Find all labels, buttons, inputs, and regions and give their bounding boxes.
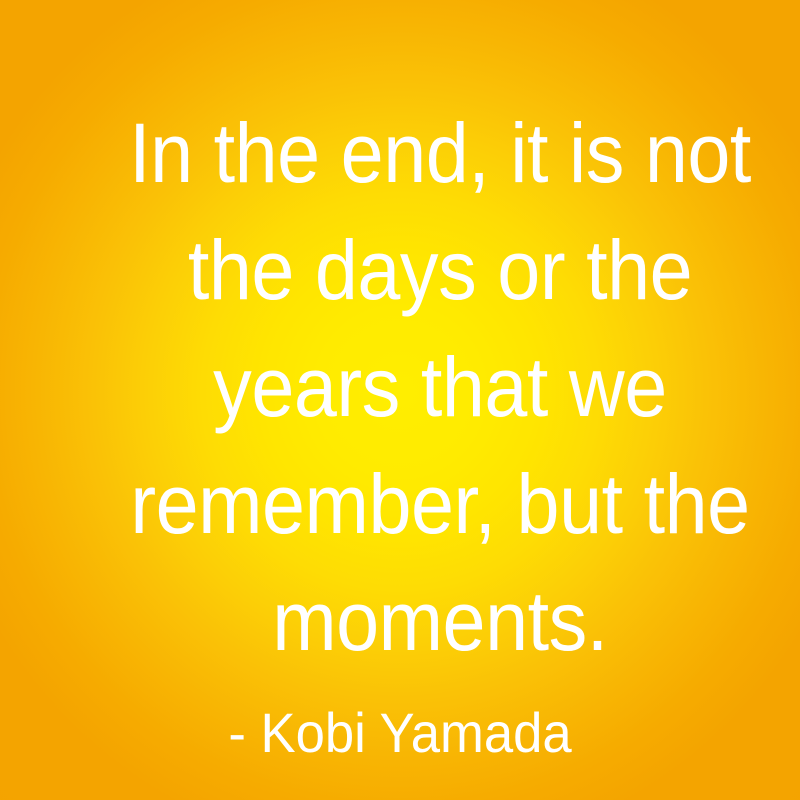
quote-card-content: In the end, it is not the days or the ye… [0, 0, 800, 800]
quote-line: moments. [72, 563, 800, 680]
quote-line: remember, but the [72, 446, 800, 563]
quote-attribution: - Kobi Yamada [24, 702, 776, 764]
quote-card: In the end, it is not the days or the ye… [0, 0, 800, 800]
quote-block: In the end, it is not the days or the ye… [40, 95, 800, 680]
quote-text: In the end, it is not the days or the ye… [72, 95, 800, 680]
quote-line: the days or the [72, 212, 800, 329]
quote-line: years that we [72, 329, 800, 446]
quote-line: In the end, it is not [72, 95, 800, 212]
